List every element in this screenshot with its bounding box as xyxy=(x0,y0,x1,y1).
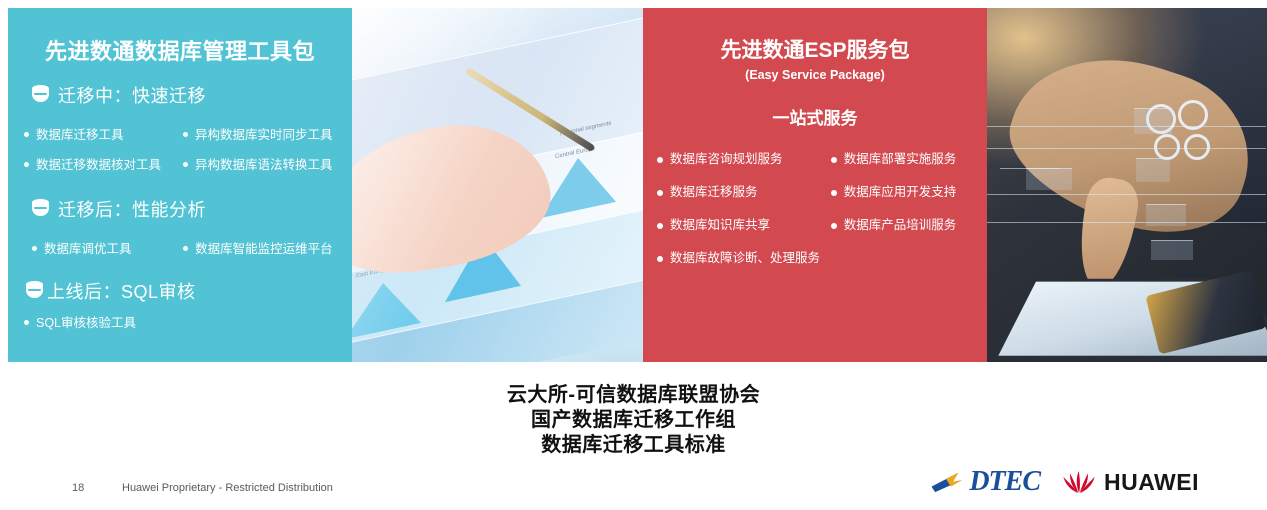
one-stop-service-heading: 一站式服务 xyxy=(643,104,987,129)
section-heading-migrating: 迁移中：快速迁移 xyxy=(32,82,352,108)
huawei-flower-icon xyxy=(1062,469,1096,495)
section-heading-label: 迁移中：快速迁移 xyxy=(58,82,206,108)
hud-chart-panel xyxy=(1134,108,1172,134)
red-card-subtitle: (Easy Service Package) xyxy=(643,68,987,82)
list-item-label: 数据库产品培训服务 xyxy=(844,209,957,242)
analytics-charts-hand-pen-photo: Regional segments Central Europe West Eu… xyxy=(350,8,646,362)
bullet-dot-icon xyxy=(657,190,663,196)
list-item[interactable]: 数据库部署实施服务 xyxy=(831,143,987,176)
item-row: 数据迁移数据核对工具 异构数据库语法转换工具 xyxy=(24,150,352,180)
item-row: 数据库迁移工具 异构数据库实时同步工具 xyxy=(24,120,352,150)
finger-tablet-data-hud-photo xyxy=(986,8,1267,362)
list-item-label: 数据库迁移工具 xyxy=(36,120,124,150)
hud-streak xyxy=(986,148,1266,149)
bullet-dot-icon xyxy=(24,320,29,325)
huawei-wordmark: HUAWEI xyxy=(1104,469,1199,496)
bullet-dot-icon xyxy=(657,157,663,163)
list-item-label: 异构数据库语法转换工具 xyxy=(195,150,333,180)
confidentiality-note: Huawei Proprietary - Restricted Distribu… xyxy=(122,482,333,494)
list-item-label: 数据库应用开发支持 xyxy=(844,176,957,209)
bullet-dot-icon xyxy=(24,162,29,167)
hud-streak xyxy=(986,222,1266,223)
hud-ring-icon xyxy=(1154,134,1180,160)
list-item-label: 数据库调优工具 xyxy=(44,234,132,264)
caption-line-3: 数据库迁移工具标准 xyxy=(0,433,1267,458)
list-item[interactable]: 数据库应用开发支持 xyxy=(831,176,987,209)
list-item[interactable]: 数据库知识库共享 xyxy=(657,209,831,242)
hud-chart-panel xyxy=(1151,240,1193,260)
banner-strip: Regional segments Central Europe West Eu… xyxy=(0,0,1267,362)
bullet-dot-icon xyxy=(831,190,837,196)
item-row: 数据库咨询规划服务 数据库部署实施服务 xyxy=(657,143,987,176)
bullet-dot-icon xyxy=(183,246,188,251)
bullet-dot-icon xyxy=(657,223,663,229)
list-item[interactable]: 数据库迁移服务 xyxy=(657,176,831,209)
page-number: 18 xyxy=(72,482,84,494)
caption-block: 云大所-可信数据库联盟协会 国产数据库迁移工作组 数据库迁移工具标准 xyxy=(0,383,1267,458)
list-item-label: 数据库智能监控运维平台 xyxy=(195,234,333,264)
list-item-label: 数据库咨询规划服务 xyxy=(670,143,783,176)
item-row: 数据库故障诊断、处理服务 xyxy=(657,242,987,275)
red-card-title: 先进数通ESP服务包 xyxy=(643,34,987,64)
list-item[interactable]: 数据库智能监控运维平台 xyxy=(183,234,352,264)
list-item-label: 数据库部署实施服务 xyxy=(844,143,957,176)
list-item[interactable]: 异构数据库语法转换工具 xyxy=(183,150,352,180)
list-item[interactable]: 异构数据库实时同步工具 xyxy=(183,120,352,150)
section-heading-after-migration: 迁移后：性能分析 xyxy=(32,196,352,222)
list-item[interactable]: 数据库产品培训服务 xyxy=(831,209,987,242)
list-item-label: 数据库迁移服务 xyxy=(670,176,758,209)
list-item[interactable]: 数据库调优工具 xyxy=(24,234,183,264)
list-item-label: 数据库故障诊断、处理服务 xyxy=(670,242,820,275)
logo-group: DTEC HUAWEI xyxy=(930,468,1199,496)
huawei-logo: HUAWEI xyxy=(1062,469,1199,496)
hud-ring-icon xyxy=(1184,134,1210,160)
list-item-label: 数据库知识库共享 xyxy=(670,209,770,242)
bullet-dot-icon xyxy=(831,157,837,163)
dtec-logo: DTEC xyxy=(930,468,1040,496)
caption-line-2: 国产数据库迁移工作组 xyxy=(0,408,1267,433)
bullet-dot-icon xyxy=(183,162,188,167)
list-item[interactable]: 数据迁移数据核对工具 xyxy=(24,150,183,180)
dtec-wordmark: DTEC xyxy=(969,468,1040,496)
bullet-dot-icon xyxy=(32,246,37,251)
section-heading-label: 上线后：SQL审核 xyxy=(47,278,196,304)
section-items-after-migration: 数据库调优工具 数据库智能监控运维平台 xyxy=(8,234,352,264)
database-icon xyxy=(32,199,49,219)
bullet-dot-icon xyxy=(657,256,663,262)
section-items-migrating: 数据库迁移工具 异构数据库实时同步工具 数据迁移数据核对工具 异构数据库语法转换… xyxy=(8,120,352,180)
item-row: 数据库知识库共享 数据库产品培训服务 xyxy=(657,209,987,242)
list-item[interactable]: 数据库迁移工具 xyxy=(24,120,183,150)
hud-chart-panel xyxy=(1136,158,1170,182)
list-item[interactable]: 数据库咨询规划服务 xyxy=(657,143,831,176)
list-item[interactable]: 数据库故障诊断、处理服务 xyxy=(657,242,820,275)
hud-line xyxy=(1000,168,1060,169)
list-item[interactable]: SQL审核核验工具 xyxy=(24,308,184,338)
section-heading-label: 迁移后：性能分析 xyxy=(58,196,206,222)
teal-card-title: 先进数通数据库管理工具包 xyxy=(8,34,352,66)
list-item-label: 数据迁移数据核对工具 xyxy=(36,150,161,180)
hud-chart-panel xyxy=(1026,168,1072,190)
section-heading-after-launch: 上线后：SQL审核 xyxy=(26,278,352,304)
hud-streak xyxy=(986,126,1266,127)
bullet-dot-icon xyxy=(831,223,837,229)
item-row: 数据库调优工具 数据库智能监控运维平台 xyxy=(24,234,352,264)
list-item-label: SQL审核核验工具 xyxy=(36,308,136,338)
esp-service-items: 数据库咨询规划服务 数据库部署实施服务 数据库迁移服务 数据库应用开发支持 xyxy=(643,143,987,275)
database-toolkit-card: 先进数通数据库管理工具包 迁移中：快速迁移 数据库迁移工具 异构数据库实时同步工… xyxy=(8,8,352,362)
bullet-dot-icon xyxy=(24,132,29,137)
database-icon xyxy=(26,281,43,301)
list-item-label: 异构数据库实时同步工具 xyxy=(195,120,333,150)
section-items-after-launch: SQL审核核验工具 xyxy=(8,308,352,338)
photo-gloss xyxy=(350,8,646,362)
item-row: SQL审核核验工具 xyxy=(24,308,352,338)
item-row: 数据库迁移服务 数据库应用开发支持 xyxy=(657,176,987,209)
esp-service-package-card: 先进数通ESP服务包 (Easy Service Package) 一站式服务 … xyxy=(643,8,987,362)
slide-canvas: Regional segments Central Europe West Eu… xyxy=(0,0,1267,510)
hud-streak xyxy=(986,194,1266,195)
dtec-arrow-icon xyxy=(930,470,968,494)
caption-line-1: 云大所-可信数据库联盟协会 xyxy=(0,383,1267,408)
bullet-dot-icon xyxy=(183,132,188,137)
database-icon xyxy=(32,85,49,105)
